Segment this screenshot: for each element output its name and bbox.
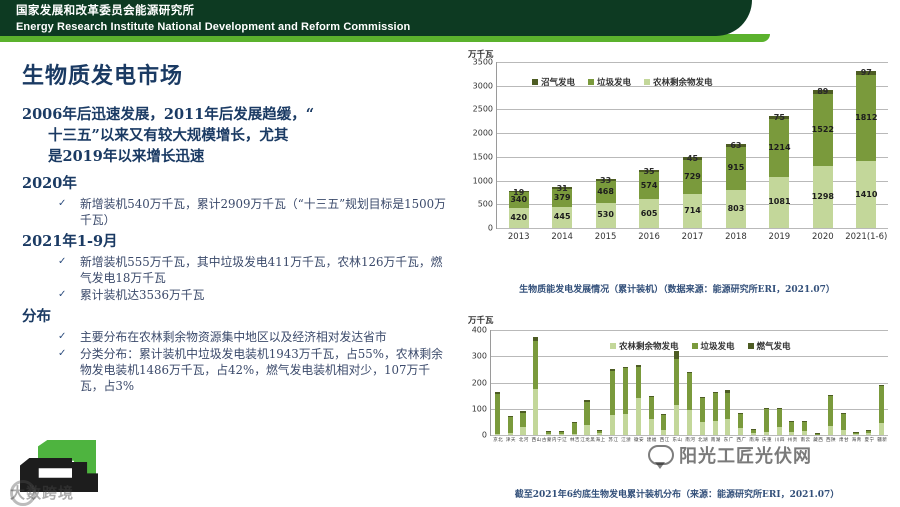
x-axis-tick-label: 河北 — [518, 437, 528, 442]
x-axis-tick-label: 上海 — [595, 437, 605, 442]
bar-column — [649, 396, 654, 435]
x-axis-tick-label: 2014 — [551, 232, 573, 242]
bar-column — [700, 397, 705, 435]
legend-label: 燃气发电 — [757, 340, 791, 352]
bar-segment — [546, 431, 551, 432]
bar-segment: 1812 — [856, 75, 876, 161]
bar-segment — [584, 400, 589, 402]
bar-segment — [725, 393, 730, 419]
y-axis-tick-label: 3000 — [473, 81, 493, 90]
legend-item: 燃气发电 — [748, 340, 791, 352]
x-axis-tick-label: 2020 — [812, 232, 834, 242]
y-axis-tick-label: 0 — [488, 224, 493, 233]
y-axis-tick-label: 400 — [472, 326, 487, 335]
bar-segment — [751, 429, 756, 433]
x-axis-tick-label: 广西 — [736, 437, 746, 442]
section-heading-2020: 2020年 — [22, 173, 452, 194]
bar-segment — [764, 432, 769, 435]
list-item-text: 分类分布：累计装机中垃圾发电装机1943万千瓦，占55%，农林剩余物发电装机14… — [80, 346, 452, 394]
lead-line-3: 是2019年以来增长迅速 — [22, 146, 452, 167]
bar-segment — [802, 422, 807, 431]
bar-segment — [495, 434, 500, 435]
bar-column — [879, 385, 884, 435]
bar-segment — [546, 432, 551, 434]
x-axis-tick-label: 2017 — [682, 232, 704, 242]
bar-value-label: 714 — [684, 206, 701, 215]
list-item-text: 新增装机555万千瓦，其中垃圾发电411万千瓦，农林126万千瓦，燃气发电18万… — [80, 254, 452, 286]
bar-segment — [533, 341, 538, 390]
bar-segment — [559, 434, 564, 435]
bar-segment: 1410 — [856, 161, 876, 228]
list-item: ✓ 累计装机达3536万千瓦 — [22, 287, 452, 303]
bar-segment — [789, 421, 794, 422]
legend-item: 农林剩余物发电 — [644, 76, 713, 88]
legend-label: 沼气发电 — [541, 76, 575, 88]
bar-segment — [866, 433, 871, 435]
chart-top-legend: 沼气发电垃圾发电农林剩余物发电 — [532, 76, 713, 88]
bar-segment — [777, 409, 782, 427]
check-icon: ✓ — [58, 254, 80, 270]
x-axis-tick-label: 山东 — [672, 437, 682, 442]
bar-segment — [610, 371, 615, 416]
y-axis-tick-label: 1500 — [473, 152, 493, 161]
bar-column: 44537931 — [552, 187, 572, 228]
bar-segment — [713, 421, 718, 435]
bar-value-label: 63 — [730, 141, 741, 150]
legend-swatch — [692, 343, 698, 349]
bar-segment — [610, 415, 615, 435]
bar-value-label: 1812 — [855, 113, 877, 122]
slide-root: 国家发展和改革委员会能源研究所 Energy Research Institut… — [0, 0, 900, 507]
bar-segment: 729 — [683, 160, 703, 195]
x-axis-tick-label: 江西 — [659, 437, 669, 442]
bar-value-label: 1214 — [768, 143, 790, 152]
bar-column — [853, 432, 858, 435]
bar-column — [674, 351, 679, 435]
check-icon: ✓ — [58, 329, 80, 345]
bar-column — [841, 413, 846, 435]
legend-swatch — [748, 343, 754, 349]
bar-segment: 45 — [683, 157, 703, 159]
section-heading-distribution: 分布 — [22, 306, 452, 327]
bar-segment — [520, 411, 525, 412]
bar-segment: 19 — [509, 191, 529, 192]
bar-column: 1410181297 — [856, 71, 876, 228]
bar-column — [713, 392, 718, 435]
list-item: ✓ 主要分布在农林剩余物资源集中地区以及经济相对发达省市 — [22, 329, 452, 345]
header-org-name-en: Energy Research Institute National Devel… — [16, 20, 410, 35]
bar-segment — [649, 419, 654, 435]
bar-segment — [841, 430, 846, 435]
x-axis-tick-label: 云南 — [800, 437, 810, 442]
legend-swatch — [644, 79, 650, 85]
list-item: ✓ 新增装机540万千瓦，累计2909万千瓦（“十三五”规划目标是1500万千瓦… — [22, 196, 452, 228]
bar-segment — [661, 430, 666, 435]
bar-segment — [828, 395, 833, 396]
bar-segment: 33 — [596, 179, 616, 181]
bar-segment: 420 — [509, 208, 529, 228]
y-axis-tick-label: 1000 — [473, 176, 493, 185]
y-axis-tick-label: 300 — [472, 352, 487, 361]
x-axis-tick-label: 2021(1-6) — [845, 232, 887, 242]
x-axis-tick-label: 广东 — [723, 437, 733, 442]
bar-segment: 1214 — [769, 119, 789, 177]
x-axis-tick-label: 山西 — [531, 437, 541, 442]
bar-value-label: 803 — [728, 204, 745, 213]
bar-segment: 1522 — [813, 94, 833, 166]
brand-logo: 大数跨境 — [8, 436, 128, 504]
bar-value-label: 31 — [557, 184, 568, 193]
header-org-block: 国家发展和改革委员会能源研究所 Energy Research Institut… — [16, 4, 410, 35]
legend-item: 垃圾发电 — [692, 340, 735, 352]
bar-segment — [700, 422, 705, 435]
bar-segment — [495, 394, 500, 433]
bar-segment: 35 — [639, 170, 659, 172]
bar-value-label: 574 — [641, 181, 658, 190]
bar-column — [572, 422, 577, 435]
legend-item: 农林剩余物发电 — [610, 340, 679, 352]
bar-segment — [674, 351, 679, 359]
y-axis-tick-label: 2500 — [473, 105, 493, 114]
x-axis-tick-label: 吉林 — [569, 437, 579, 442]
bar-segment: 445 — [552, 207, 572, 228]
bar-value-label: 33 — [600, 176, 611, 185]
x-axis-tick-label: 贵州 — [787, 437, 797, 442]
bar-segment — [597, 430, 602, 433]
bar-value-label: 97 — [861, 68, 872, 77]
lead-paragraph: 2006年后迅速发展，2011年后发展趋缓，“ 十三五”以来又有较大规模增长，尤… — [22, 104, 452, 167]
bar-column — [815, 433, 820, 435]
bar-segment — [572, 422, 577, 434]
bar-value-label: 915 — [728, 163, 745, 172]
legend-swatch — [610, 343, 616, 349]
bar-column — [687, 372, 692, 435]
bar-segment — [687, 372, 692, 374]
bar-value-label: 420 — [510, 213, 527, 222]
bar-segment: 1081 — [769, 177, 789, 228]
bar-segment — [764, 408, 769, 432]
slide-header: 国家发展和改革委员会能源研究所 Energy Research Institut… — [0, 0, 900, 46]
bar-segment — [828, 396, 833, 426]
bar-value-label: 445 — [554, 212, 571, 221]
bar-segment — [508, 433, 513, 435]
bar-segment — [802, 431, 807, 435]
bar-segment — [777, 427, 782, 435]
bar-segment — [546, 434, 551, 435]
content-left-column: 生物质发电市场 2006年后迅速发展，2011年后发展趋缓，“ 十三五”以来又有… — [22, 58, 452, 498]
bar-segment — [841, 413, 846, 429]
y-axis-tick-label: 3500 — [473, 58, 493, 67]
bar-value-label: 729 — [684, 172, 701, 181]
gridline — [491, 330, 888, 331]
bar-segment — [879, 423, 884, 435]
bar-column: 71472945 — [683, 157, 703, 228]
bar-segment — [764, 408, 769, 409]
bar-segment — [879, 385, 884, 387]
bar-segment — [572, 434, 577, 435]
x-axis-tick-label: 四川 — [774, 437, 784, 442]
bar-segment — [597, 430, 602, 431]
bar-column — [559, 431, 564, 435]
page-title: 生物质发电市场 — [22, 58, 452, 90]
bar-segment: 530 — [596, 203, 616, 228]
bar-column — [789, 421, 794, 435]
bar-segment — [520, 427, 525, 435]
chart-biomass-province-distribution: 万千瓦 0100200300400北京天津河北山西内蒙古辽宁吉林黑龙江上海江苏浙… — [462, 318, 892, 478]
bar-segment: 89 — [813, 90, 833, 94]
lead-line-2: 十三五”以来又有较大规模增长，尤其 — [22, 125, 452, 146]
list-item-text: 主要分布在农林剩余物资源集中地区以及经济相对发达省市 — [80, 329, 452, 345]
bar-segment — [751, 433, 756, 435]
y-axis-tick-label: 0 — [482, 431, 487, 440]
bar-segment: 63 — [726, 144, 746, 147]
section-2020: 2020年 ✓ 新增装机540万千瓦，累计2909万千瓦（“十三五”规划目标是1… — [22, 173, 452, 228]
section-heading-2021: 2021年1-9月 — [22, 231, 452, 252]
bar-segment — [725, 419, 730, 435]
x-axis-tick-label: 福建 — [646, 437, 656, 442]
bar-column — [661, 414, 666, 435]
legend-item: 沼气发电 — [532, 76, 575, 88]
y-axis-tick-label: 2000 — [473, 129, 493, 138]
x-axis-tick-label: 甘肃 — [838, 437, 848, 442]
bar-segment — [777, 408, 782, 409]
legend-item: 垃圾发电 — [588, 76, 631, 88]
bar-column — [751, 429, 756, 435]
x-axis-tick-label: 2016 — [638, 232, 660, 242]
x-axis-tick-label: 江苏 — [608, 437, 618, 442]
bar-segment: 1298 — [813, 166, 833, 228]
bar-segment — [597, 433, 602, 435]
bar-segment — [802, 421, 807, 422]
bar-segment — [841, 413, 846, 414]
bar-value-label: 1522 — [812, 125, 834, 134]
bar-segment: 605 — [639, 199, 659, 228]
bar-segment — [725, 390, 730, 393]
x-axis-tick-label: 西藏 — [813, 437, 823, 442]
gridline — [497, 228, 888, 229]
bar-column — [597, 430, 602, 435]
bar-segment: 97 — [856, 71, 876, 76]
section-2021: 2021年1-9月 ✓ 新增装机555万千瓦，其中垃圾发电411万千瓦，农林12… — [22, 231, 452, 303]
lead-line-1: 2006年后迅速发展，2011年后发展趋缓，“ — [22, 106, 314, 123]
bar-segment — [661, 415, 666, 431]
bar-segment: 31 — [552, 187, 572, 188]
bar-segment — [572, 422, 577, 423]
bar-segment — [649, 397, 654, 419]
bar-column: 1298152289 — [813, 90, 833, 228]
bar-segment: 75 — [769, 116, 789, 120]
y-axis-tick-label: 100 — [472, 404, 487, 413]
bar-segment — [623, 368, 628, 414]
bar-column: 1081121475 — [769, 116, 789, 228]
bar-value-label: 1081 — [768, 197, 790, 206]
bar-value-label: 35 — [643, 167, 654, 176]
bar-segment — [533, 337, 538, 340]
bar-segment — [738, 428, 743, 435]
bar-column — [866, 430, 871, 435]
bar-segment — [815, 434, 820, 435]
bar-column: 42034019 — [509, 191, 529, 228]
bar-segment — [879, 386, 884, 423]
x-axis-tick-label: 北京 — [492, 437, 502, 442]
chart-biomass-cumulative-capacity: 万千瓦 050010001500200025003000350042034019… — [462, 50, 892, 255]
y-axis-tick-label: 200 — [472, 378, 487, 387]
x-axis-tick-label: 辽宁 — [556, 437, 566, 442]
x-axis-tick-label: 2019 — [769, 232, 791, 242]
x-axis-tick-label: 陕西 — [825, 437, 835, 442]
bar-segment — [623, 367, 628, 369]
bar-value-label: 468 — [597, 187, 614, 196]
bar-segment — [520, 413, 525, 427]
x-axis-tick-label: 2015 — [595, 232, 617, 242]
x-axis-tick-label: 河南 — [685, 437, 695, 442]
bar-column — [546, 431, 551, 435]
check-icon: ✓ — [58, 196, 80, 212]
bar-value-label: 89 — [817, 87, 828, 96]
bar-value-label: 605 — [641, 209, 658, 218]
bar-segment — [713, 393, 718, 421]
bar-segment — [495, 392, 500, 394]
bar-segment — [508, 416, 513, 417]
bar-value-label: 75 — [774, 113, 785, 122]
bar-segment — [623, 414, 628, 435]
bar-value-label: 1410 — [855, 190, 877, 199]
bar-column — [533, 337, 538, 435]
chart-top-caption: 生物质能发电发展情况（累计装机）（数据来源：能源研究所ERI，2021.07） — [462, 282, 892, 295]
bar-segment — [687, 410, 692, 435]
bar-value-label: 379 — [554, 193, 571, 202]
bar-segment — [674, 405, 679, 435]
bar-segment — [789, 432, 794, 435]
bar-segment: 714 — [683, 194, 703, 228]
x-axis-tick-label: 青海 — [851, 437, 861, 442]
bar-segment — [636, 367, 641, 399]
legend-label: 垃圾发电 — [701, 340, 735, 352]
bar-column — [508, 416, 513, 435]
bar-column — [584, 400, 589, 435]
bar-segment — [661, 414, 666, 415]
x-axis-tick-label: 湖北 — [697, 437, 707, 442]
bar-value-label: 530 — [597, 210, 614, 219]
bar-segment — [636, 365, 641, 367]
x-axis-tick-label: 新疆 — [877, 437, 887, 442]
bar-segment — [738, 413, 743, 414]
bar-segment — [853, 434, 858, 435]
bar-column — [764, 408, 769, 435]
bar-segment — [687, 373, 692, 410]
bar-segment: 915 — [726, 147, 746, 190]
bar-column — [777, 408, 782, 435]
header-org-name-cn: 国家发展和改革委员会能源研究所 — [16, 4, 410, 19]
bar-segment — [610, 369, 615, 371]
bar-segment — [828, 426, 833, 435]
y-axis-tick-label: 500 — [478, 200, 493, 209]
legend-swatch — [532, 79, 538, 85]
bar-column — [610, 369, 615, 435]
bar-column — [495, 392, 500, 435]
x-axis-tick-label: 浙江 — [620, 437, 630, 442]
bar-segment — [533, 389, 538, 435]
chart-bottom-unit-label: 万千瓦 — [468, 314, 494, 326]
bar-column — [636, 365, 641, 435]
x-axis-tick-label: 湖南 — [710, 437, 720, 442]
bar-segment — [853, 432, 858, 434]
bar-column — [520, 411, 525, 435]
bar-segment — [584, 402, 589, 424]
gridline — [491, 435, 888, 436]
x-axis-tick-label: 2013 — [508, 232, 530, 242]
bar-column — [738, 413, 743, 435]
gridline — [491, 356, 888, 357]
logo-watermark-text: 大数跨境 — [10, 482, 74, 503]
list-item: ✓ 分类分布：累计装机中垃圾发电装机1943万千瓦，占55%，农林剩余物发电装机… — [22, 346, 452, 394]
x-axis-tick-label: 内蒙古 — [541, 437, 556, 442]
bar-column: 80391563 — [726, 144, 746, 228]
bar-segment — [559, 431, 564, 434]
bar-value-label: 1298 — [812, 192, 834, 201]
bar-value-label: 19 — [513, 188, 524, 197]
bar-segment — [713, 392, 718, 393]
x-axis-tick-label: 安徽 — [633, 437, 643, 442]
x-axis-tick-label: 宁夏 — [864, 437, 874, 442]
bar-segment — [815, 434, 820, 435]
legend-label: 农林剩余物发电 — [653, 76, 713, 88]
bar-segment: 803 — [726, 190, 746, 228]
x-axis-tick-label: 黑龙江 — [580, 437, 595, 442]
bar-column: 60557435 — [639, 170, 659, 228]
legend-label: 农林剩余物发电 — [619, 340, 679, 352]
bar-column — [623, 367, 628, 436]
x-axis-tick-label: 2018 — [725, 232, 747, 242]
bar-column — [828, 395, 833, 435]
bar-segment — [649, 396, 654, 397]
gridline — [497, 62, 888, 63]
x-axis-tick-label: 海南 — [749, 437, 759, 442]
bar-column — [725, 390, 730, 435]
x-axis-tick-label: 重庆 — [761, 437, 771, 442]
bar-segment — [636, 398, 641, 435]
list-item-text: 累计装机达3536万千瓦 — [80, 287, 452, 303]
check-icon: ✓ — [58, 287, 80, 303]
bar-segment — [700, 398, 705, 422]
check-icon: ✓ — [58, 346, 80, 362]
chart-bottom-caption: 截至2021年6约底生物发电累计装机分布（来源：能源研究所ERI，2021.07… — [462, 487, 892, 500]
bar-column — [802, 421, 807, 435]
bar-column: 53046833 — [596, 179, 616, 228]
section-distribution: 分布 ✓ 主要分布在农林剩余物资源集中地区以及经济相对发达省市 ✓ 分类分布：累… — [22, 306, 452, 394]
legend-swatch — [588, 79, 594, 85]
bar-segment — [700, 397, 705, 398]
list-item-text: 新增装机540万千瓦，累计2909万千瓦（“十三五”规划目标是1500万千瓦） — [80, 196, 452, 228]
bar-segment — [738, 414, 743, 428]
bar-segment — [508, 417, 513, 433]
bar-segment — [674, 359, 679, 405]
legend-label: 垃圾发电 — [597, 76, 631, 88]
bar-segment — [866, 430, 871, 433]
list-item: ✓ 新增装机555万千瓦，其中垃圾发电411万千瓦，农林126万千瓦，燃气发电1… — [22, 254, 452, 286]
bar-value-label: 45 — [687, 154, 698, 163]
chart-bottom-legend: 农林剩余物发电垃圾发电燃气发电 — [610, 340, 791, 352]
bar-segment — [584, 425, 589, 436]
bar-segment — [789, 421, 794, 432]
x-axis-tick-label: 天津 — [505, 437, 515, 442]
